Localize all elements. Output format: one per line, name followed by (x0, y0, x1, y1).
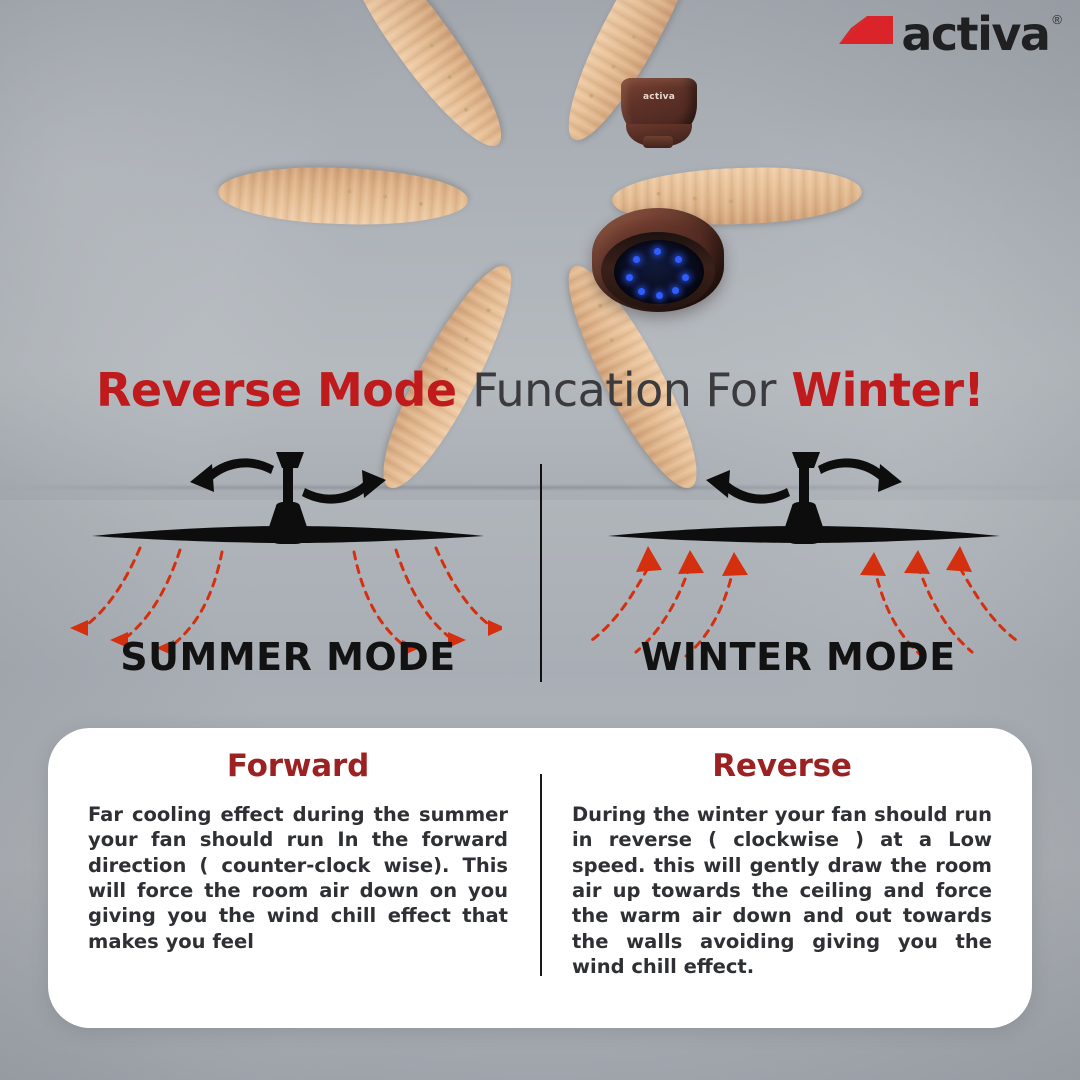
led-dot (633, 256, 640, 263)
reverse-description: During the winter your fan should run in… (572, 802, 992, 979)
fan-silhouette-icon (92, 452, 484, 544)
rotation-arrow-left-icon (190, 458, 274, 492)
headline-part-winter: Winter! (791, 363, 984, 417)
reverse-mode-column: Reverse During the winter your fan shoul… (572, 748, 992, 979)
headline-part-reverse-mode: Reverse Mode (96, 363, 457, 417)
rotation-arrow-right-icon (302, 470, 386, 504)
led-dot (675, 256, 682, 263)
fan-silhouette-icon (608, 452, 1000, 544)
mode-labels: SUMMER MODE WINTER MODE (0, 635, 1080, 695)
card-vertical-divider (540, 774, 542, 976)
fan-led-panel (614, 240, 704, 304)
headline-part-funcation-for: Funcation For (472, 363, 776, 417)
led-dot (638, 288, 645, 295)
led-dot (654, 248, 661, 255)
canopy-brand-label: activa (621, 92, 697, 102)
led-dot (682, 274, 689, 281)
summer-mode-label: SUMMER MODE (68, 635, 508, 679)
rotation-arrow-left-icon (706, 470, 790, 504)
reverse-heading: Reverse (572, 748, 992, 784)
airflow-arrows-downward (88, 548, 488, 644)
led-dot (656, 292, 663, 299)
forward-heading: Forward (88, 748, 508, 784)
led-dot (672, 287, 679, 294)
infographic-page: activa ® activa Reverse Mode (0, 0, 1080, 1080)
page-title: Reverse Mode Funcation For Winter! (0, 366, 1080, 414)
info-card: Forward Far cooling effect during the su… (48, 728, 1032, 1028)
forward-mode-column: Forward Far cooling effect during the su… (88, 748, 508, 954)
rotation-arrow-right-icon (818, 458, 902, 492)
led-dot (626, 274, 633, 281)
forward-description: Far cooling effect during the summer you… (88, 802, 508, 954)
fan-downrod-cap (643, 136, 673, 148)
airflow-arrowheads-upward (636, 546, 972, 576)
winter-mode-label: WINTER MODE (578, 635, 1018, 679)
